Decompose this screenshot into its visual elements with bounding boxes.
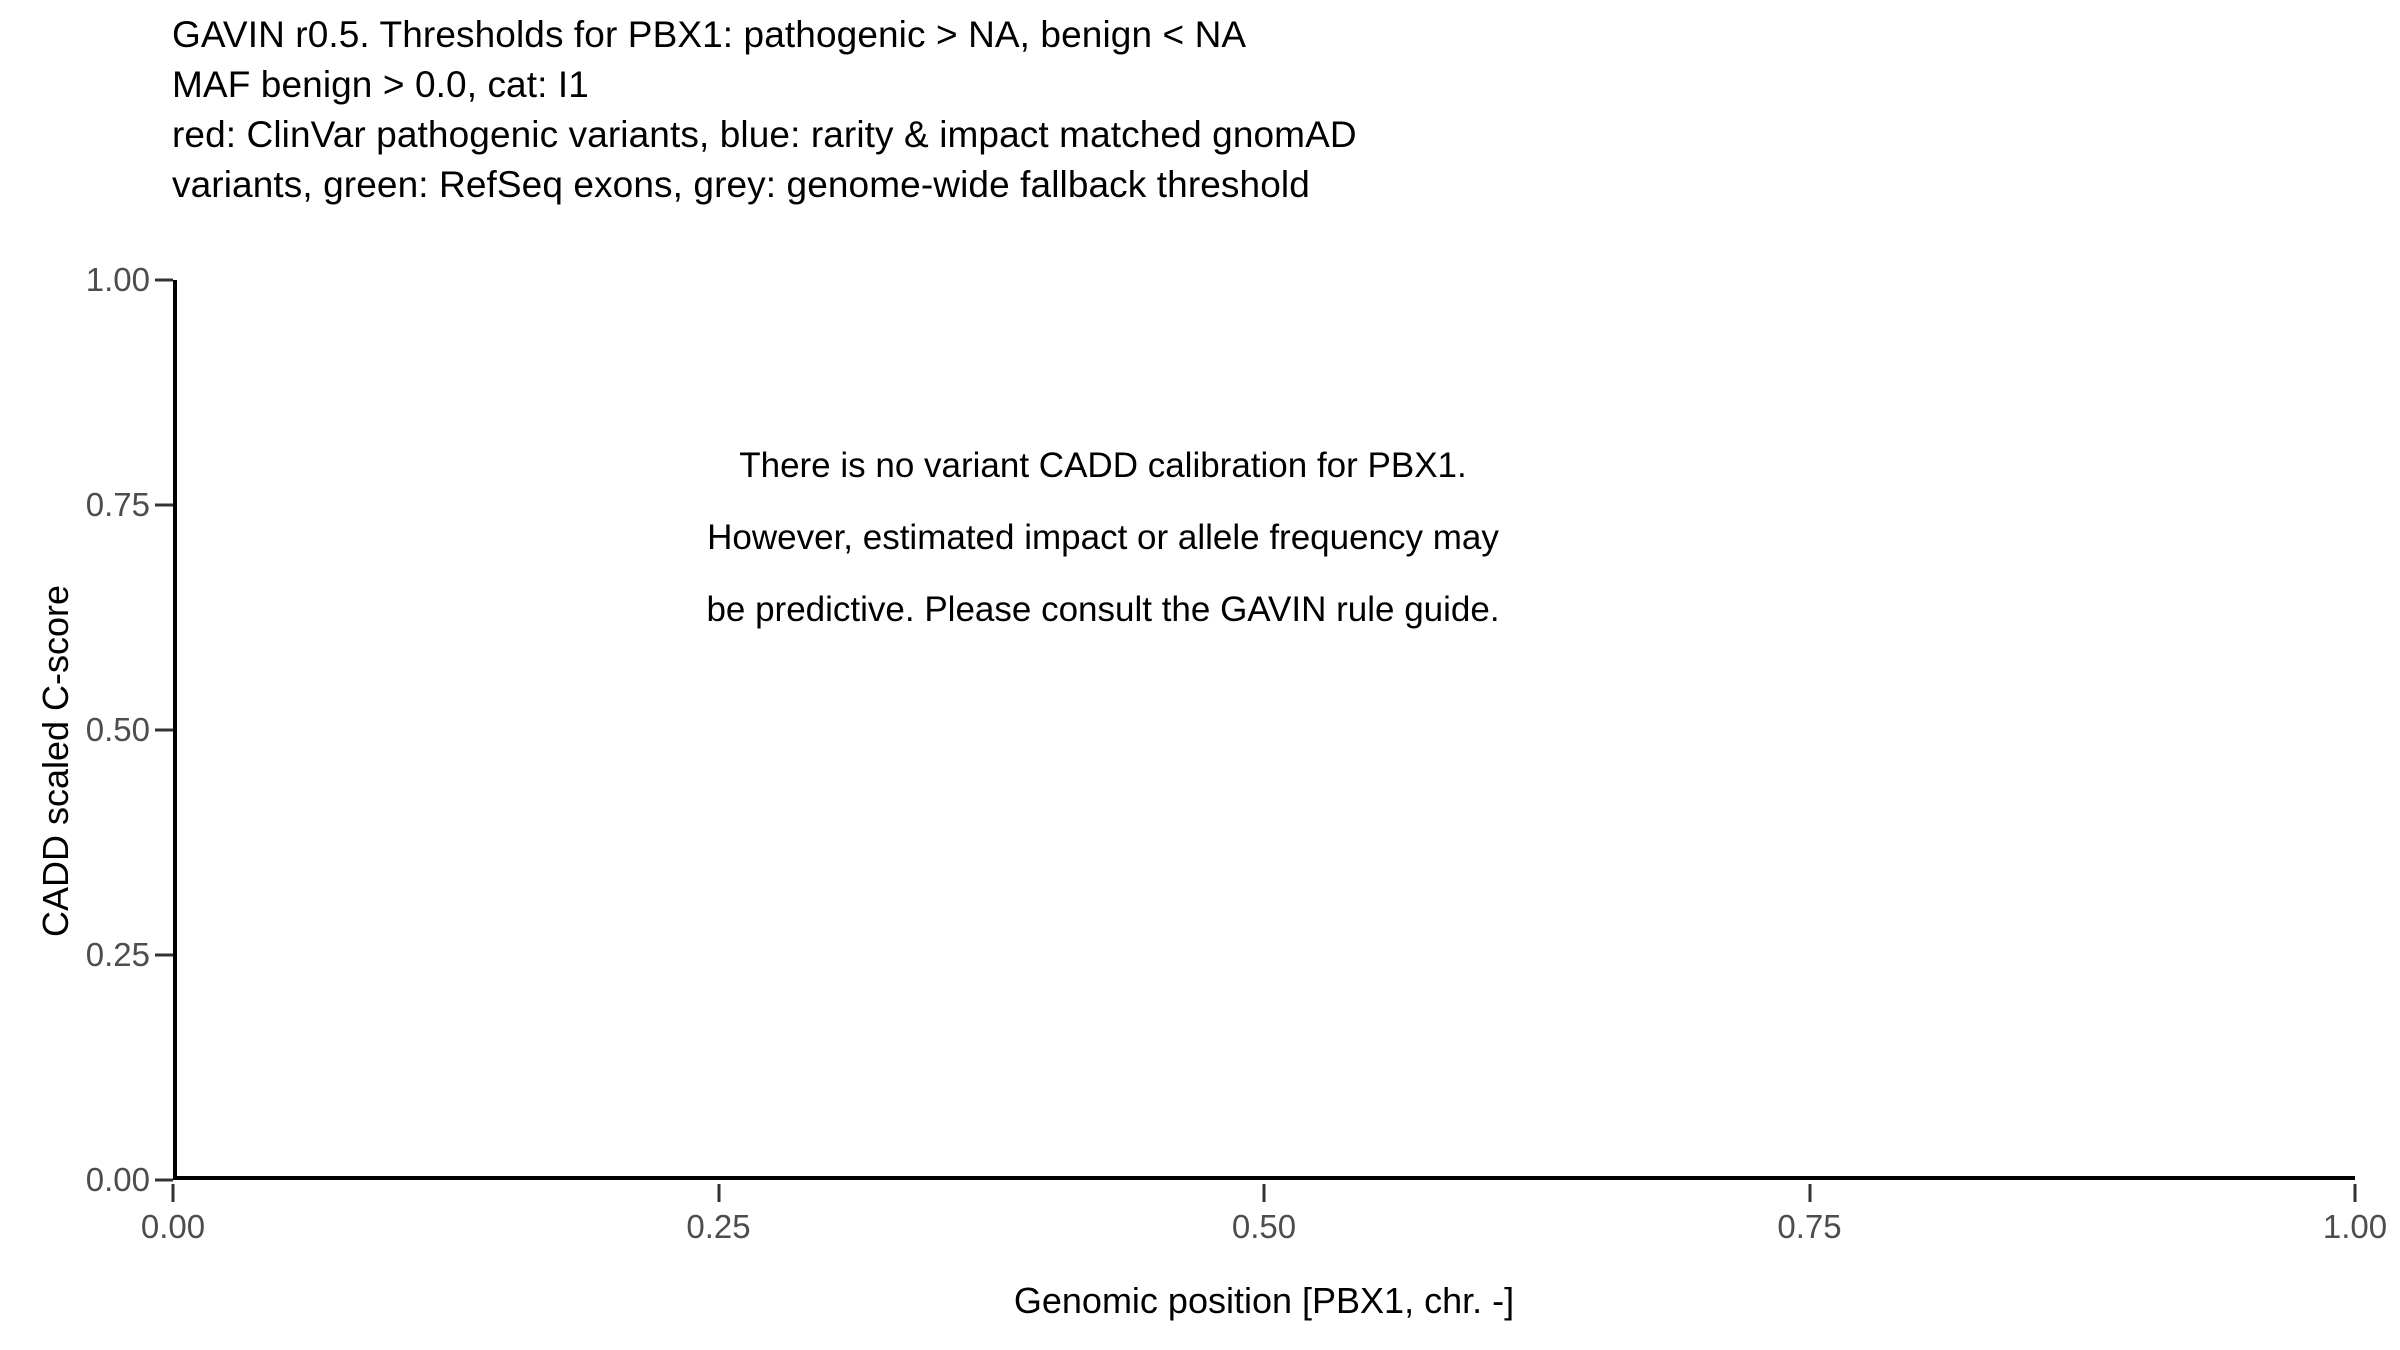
y-axis-line: [173, 280, 177, 1180]
plot-title-block: GAVIN r0.5. Thresholds for PBX1: pathoge…: [172, 10, 2272, 210]
y-tick-label-1.00: 1.00: [0, 261, 150, 299]
x-tick-mark-0.50: [1263, 1184, 1266, 1202]
x-tick-label-1.00: 1.00: [2255, 1208, 2400, 1246]
x-tick-mark-0.75: [1808, 1184, 1811, 1202]
plot-title-line-4: variants, green: RefSeq exons, grey: gen…: [172, 160, 2272, 210]
x-axis-title: Genomic position [PBX1, chr. -]: [173, 1280, 2355, 1322]
y-tick-label-0.00: 0.00: [0, 1161, 150, 1199]
x-tick-label-0.00: 0.00: [73, 1208, 273, 1246]
y-tick-label-0.25: 0.25: [0, 936, 150, 974]
x-tick-label-0.75: 0.75: [1710, 1208, 1910, 1246]
x-axis-line: [173, 1176, 2355, 1180]
x-axis-tick-labels: 0.00 0.25 0.50 0.75 1.00: [173, 1208, 2355, 1258]
x-tick-mark-1.00: [2354, 1184, 2357, 1202]
x-tick-label-0.50: 0.50: [1164, 1208, 1364, 1246]
y-tick-mark-0.50: [155, 729, 173, 732]
panel-annotation-line-2: However, estimated impact or allele freq…: [503, 502, 1703, 574]
plot-region: CADD scaled C-score 1.00 0.75 0.50 0.25 …: [0, 280, 2400, 1350]
y-tick-mark-0.25: [155, 954, 173, 957]
figure-canvas: GAVIN r0.5. Thresholds for PBX1: pathoge…: [0, 0, 2400, 1350]
panel-annotation-line-3: be predictive. Please consult the GAVIN …: [503, 574, 1703, 646]
panel-annotation: There is no variant CADD calibration for…: [503, 430, 1703, 646]
x-tick-mark-0.00: [172, 1184, 175, 1202]
y-tick-label-0.75: 0.75: [0, 486, 150, 524]
x-tick-label-0.25: 0.25: [619, 1208, 819, 1246]
y-tick-mark-0.75: [155, 504, 173, 507]
x-axis-tick-marks: [173, 1184, 2355, 1202]
y-tick-mark-1.00: [155, 279, 173, 282]
plot-panel: There is no variant CADD calibration for…: [173, 280, 2355, 1180]
y-tick-mark-0.00: [155, 1179, 173, 1182]
plot-title-line-2: MAF benign > 0.0, cat: I1: [172, 60, 2272, 110]
y-tick-label-0.50: 0.50: [0, 711, 150, 749]
y-axis-tick-marks: [155, 280, 173, 1180]
y-axis-tick-labels: 1.00 0.75 0.50 0.25 0.00: [0, 280, 150, 1180]
plot-title-line-1: GAVIN r0.5. Thresholds for PBX1: pathoge…: [172, 10, 2272, 60]
x-tick-mark-0.25: [717, 1184, 720, 1202]
plot-title-line-3: red: ClinVar pathogenic variants, blue: …: [172, 110, 2272, 160]
panel-annotation-line-1: There is no variant CADD calibration for…: [503, 430, 1703, 502]
